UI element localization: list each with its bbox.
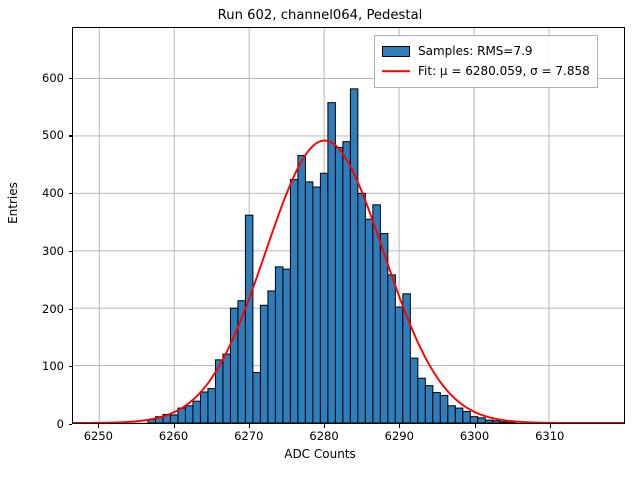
x-tick-mark <box>550 424 551 428</box>
y-tick-label: 600 <box>42 71 64 85</box>
histogram-figure: Run 602, channel064, Pedestal Entries AD… <box>0 0 640 480</box>
x-tick-mark <box>475 424 476 428</box>
y-axis-tick-labels: 0100200300400500600 <box>0 0 64 480</box>
x-tick-label: 6280 <box>309 429 338 443</box>
legend-label-samples: Samples: RMS=7.9 <box>418 44 533 58</box>
legend-item-samples: Samples: RMS=7.9 <box>382 41 590 61</box>
y-tick-mark <box>69 424 73 425</box>
x-tick-label: 6250 <box>84 429 113 443</box>
y-tick-label: 500 <box>42 128 64 142</box>
x-tick-mark <box>399 424 400 428</box>
x-tick-label: 6310 <box>535 429 564 443</box>
y-tick-label: 0 <box>57 417 64 431</box>
x-axis-label: ADC Counts <box>0 447 640 461</box>
legend-item-fit: Fit: μ = 6280.059, σ = 7.858 <box>382 61 590 81</box>
legend: Samples: RMS=7.9 Fit: μ = 6280.059, σ = … <box>374 35 598 88</box>
y-tick-label: 200 <box>42 302 64 316</box>
chart-title: Run 602, channel064, Pedestal <box>0 8 640 23</box>
legend-label-fit: Fit: μ = 6280.059, σ = 7.858 <box>418 64 590 78</box>
x-tick-label: 6290 <box>385 429 414 443</box>
y-tick-label: 100 <box>42 359 64 373</box>
x-tick-mark <box>98 424 99 428</box>
legend-line-icon <box>382 66 410 77</box>
x-tick-mark <box>249 424 250 428</box>
y-tick-label: 300 <box>42 244 64 258</box>
x-tick-label: 6270 <box>234 429 263 443</box>
y-tick-label: 400 <box>42 186 64 200</box>
x-tick-label: 6260 <box>159 429 188 443</box>
x-tick-mark <box>174 424 175 428</box>
x-tick-label: 6300 <box>460 429 489 443</box>
legend-swatch-icon <box>382 46 410 57</box>
x-tick-mark <box>324 424 325 428</box>
